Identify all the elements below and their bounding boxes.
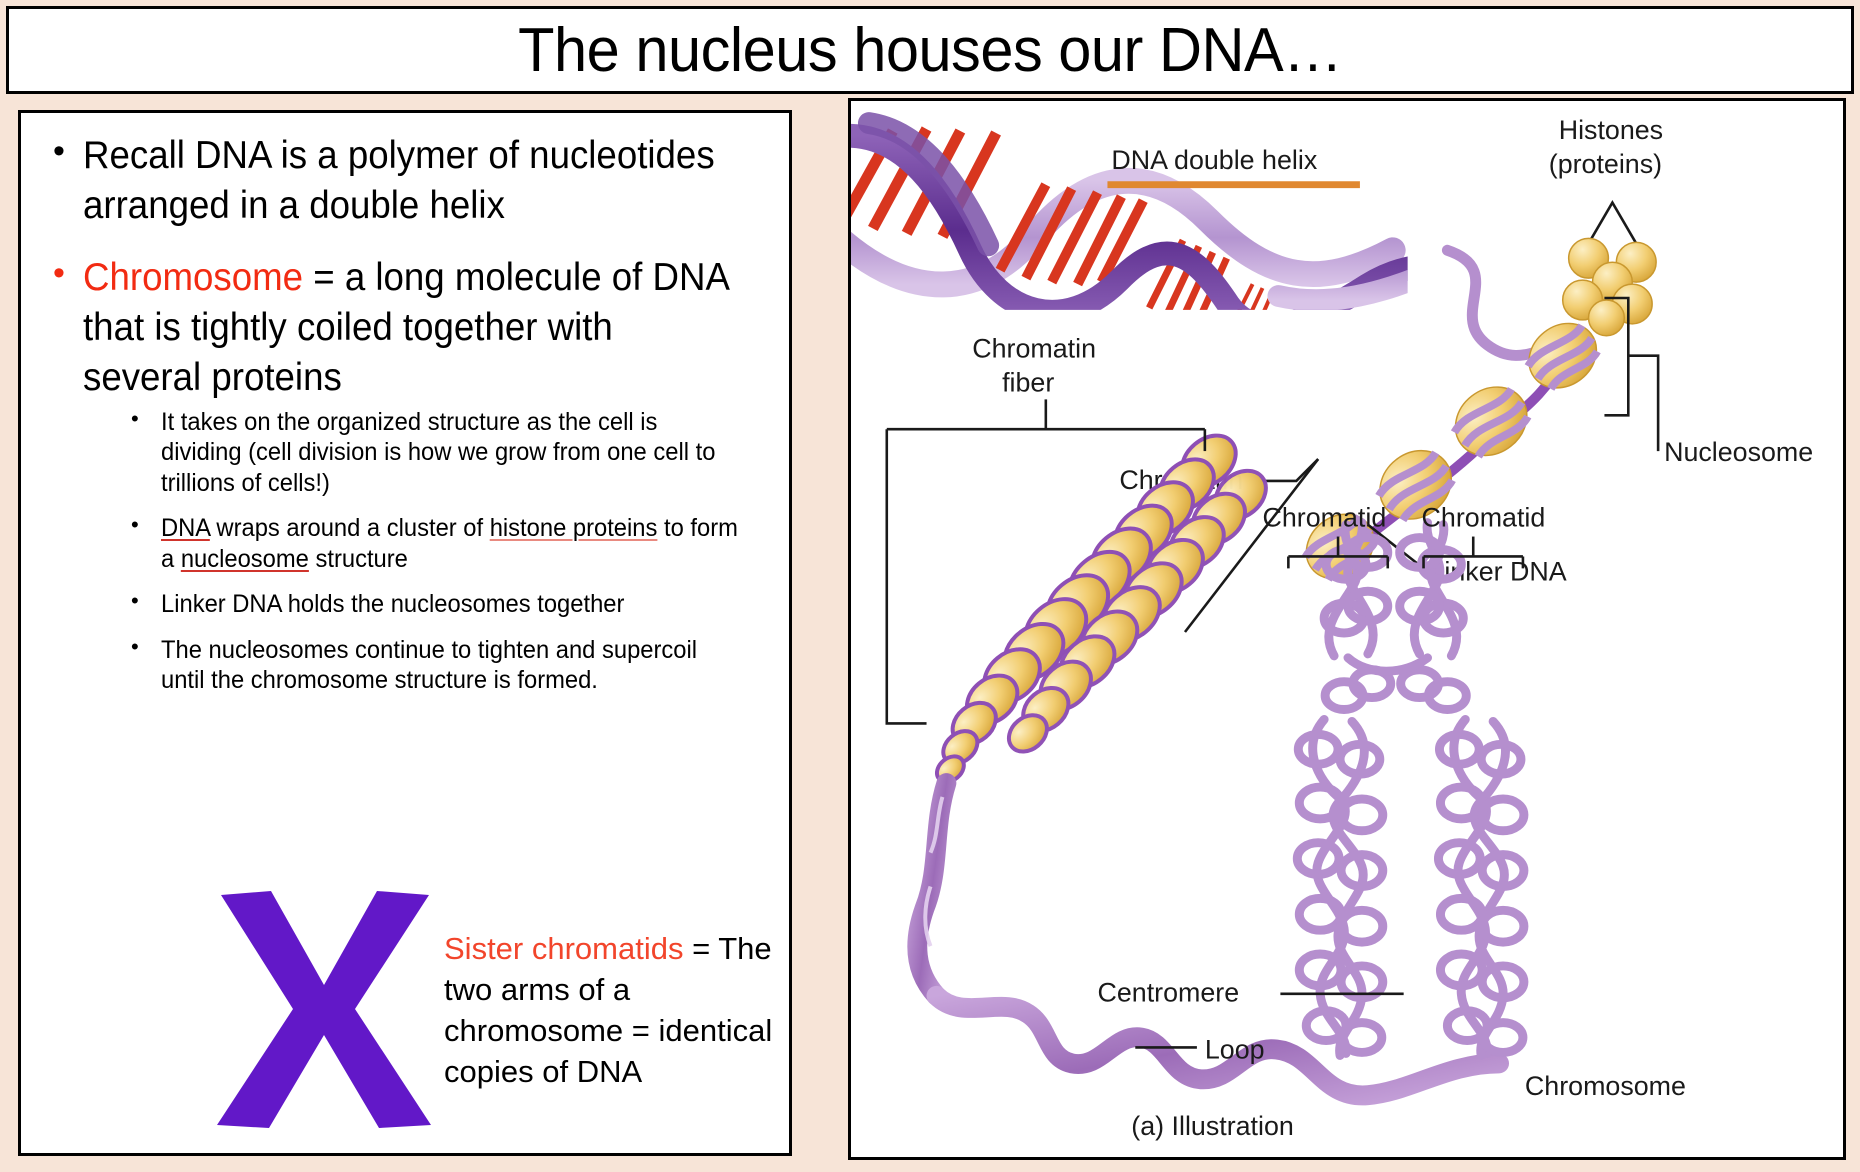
sister-chromatids-equals: = [683,931,710,966]
label-loop: Loop [1205,1034,1265,1064]
label-histones-line1: Histones [1559,115,1663,145]
sub-linker-dna: Linker DNA holds the nucleosomes togethe… [119,589,775,620]
sub-bullet-list: It takes on the organized structure as t… [119,407,775,696]
sub-dna-wraps-text-c: structure [309,545,408,573]
centromere-graphic [1325,658,1466,710]
chromatin-fiber-bracket-left [887,429,927,723]
sub-organized-structure: It takes on the organized structure as t… [119,407,775,499]
bullet-chromosome-keyword: Chromosome [83,256,303,299]
label-dna-double-helix: DNA double helix [1111,145,1317,175]
label-chromatid-left: Chromatid [1263,503,1387,533]
sub-dna-wraps-term-nucleosome: nucleosome [181,545,309,573]
bullet-recall-dna: Recall DNA is a polymer of nucleotides a… [39,131,775,231]
chromatin-fiber-graphic [932,425,1275,787]
dna-packaging-diagram: DNA double helix Histones (proteins) [851,101,1843,1157]
slide-title-bar: The nucleus houses our DNA… [6,6,1854,94]
dna-packaging-diagram-panel: DNA double helix Histones (proteins) [848,98,1846,1160]
sub-dna-wraps-text-a: wraps around a cluster of [210,514,490,542]
sub-supercoil-text: The nucleosomes continue to tighten and … [161,635,744,696]
label-chromatin-fiber-line1: Chromatin [972,334,1096,364]
sub-dna-wraps: DNA wraps around a cluster of histone pr… [119,513,775,574]
chromatid-right [1438,719,1523,1055]
label-chromatid-right: Chromatid [1422,503,1546,533]
sub-dna-wraps-term-dna: DNA [161,514,210,542]
label-chromosome: Chromosome [1525,1071,1686,1101]
histone-cluster-graphic [1563,238,1656,335]
sub-organized-structure-text: It takes on the organized structure as t… [161,407,744,499]
label-centromere: Centromere [1098,978,1240,1008]
page-title: The nucleus houses our DNA… [518,15,1342,86]
chromatid-left [1297,719,1382,1055]
label-histones-line2: (proteins) [1549,149,1662,179]
sub-dna-wraps-term-histone: histone proteins [490,514,658,542]
label-nucleosome: Nucleosome [1664,437,1813,467]
bullet-chromosome: Chromosome = a long molecule of DNA that… [39,253,775,696]
diagram-caption: (a) Illustration [1131,1111,1294,1141]
sub-linker-dna-text: Linker DNA holds the nucleosomes togethe… [161,589,624,620]
nucleosome-bracket-leader [1628,356,1658,451]
label-chromatin-fiber-line2: fiber [1002,367,1054,397]
chromosome-graphic [1297,523,1524,1056]
sub-supercoil: The nucleosomes continue to tighten and … [119,635,775,696]
sister-chromatid-zone: Sister chromatids = The two arms of a ch… [39,889,779,1139]
x-chromosome-icon [209,889,439,1129]
main-bullet-list: Recall DNA is a polymer of nucleotides a… [39,131,775,696]
sister-chromatid-definition: Sister chromatids = The two arms of a ch… [444,929,784,1093]
bullet-recall-dna-text: Recall DNA is a polymer of nucleotides a… [83,131,733,231]
sister-chromatids-label: Sister chromatids [444,931,683,966]
left-content-panel: Recall DNA is a polymer of nucleotides a… [18,110,792,1156]
